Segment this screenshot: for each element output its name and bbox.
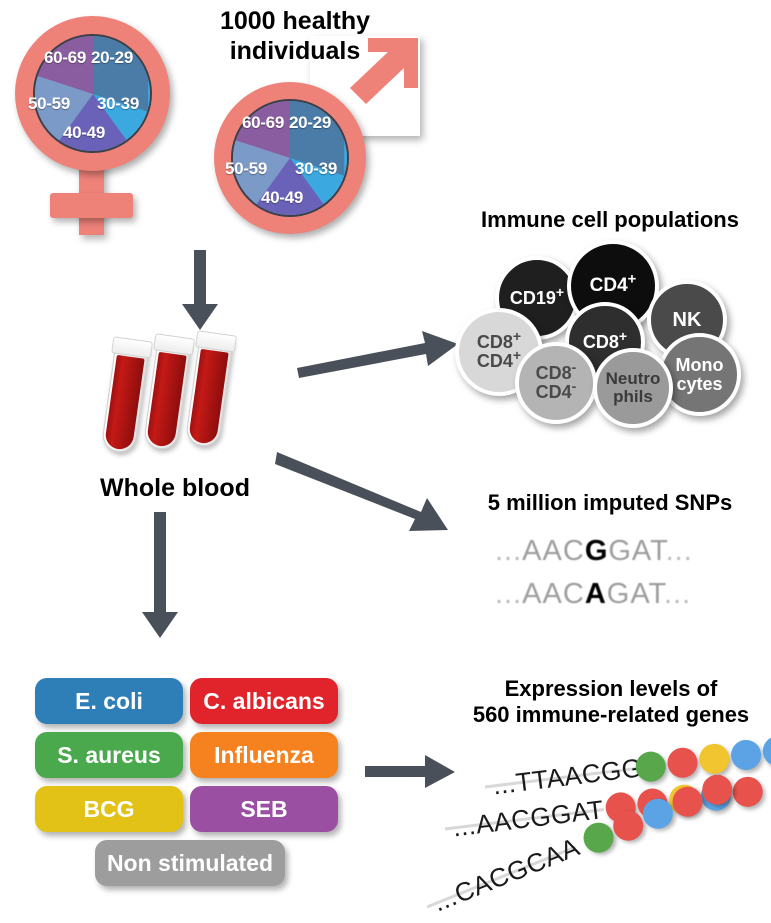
immune-heading: Immune cell populations xyxy=(455,207,765,233)
snp-right: GAT xyxy=(608,535,665,567)
stimulus-c-albicans[interactable]: C. albicans xyxy=(190,678,338,724)
immune-cell-label: CD19+ xyxy=(510,289,564,308)
snp-heading: 5 million imputed SNPs xyxy=(455,490,765,516)
pie-label-40-49: 40-49 xyxy=(261,188,303,208)
snp-prefix: ... xyxy=(495,535,522,567)
cohort-heading-line1: 1000 healthy xyxy=(170,6,420,36)
stimulation-panel: E. coli C. albicans S. aureus Influenza … xyxy=(35,678,335,898)
female-crossbar xyxy=(50,193,133,218)
arrow-cohort-to-blood xyxy=(180,250,220,332)
snp-right: GAT xyxy=(607,578,664,610)
stimulus-label: SEB xyxy=(240,796,287,823)
pie-label-30-39: 30-39 xyxy=(97,94,139,114)
expression-heading: Expression levels of 560 immune-related … xyxy=(455,676,767,729)
immune-cell-label: CD4+ xyxy=(590,276,637,296)
stimulus-label: C. albicans xyxy=(203,688,324,715)
snp-left: AAC xyxy=(522,535,585,567)
stimulus-label: BCG xyxy=(83,796,134,823)
immune-cell-neutrophils: Neutrophils xyxy=(593,348,673,428)
snp-sequence-row: ...AACGGAT... xyxy=(495,535,693,568)
pie-label-20-29: 20-29 xyxy=(91,48,133,68)
arrow-blood-to-stimuli xyxy=(140,512,180,640)
stimulus-e-coli[interactable]: E. coli xyxy=(35,678,183,724)
whole-blood-label: Whole blood xyxy=(75,473,275,503)
male-symbol: 20-29 30-39 40-49 50-59 60-69 xyxy=(205,58,420,248)
pie-label-20-29: 20-29 xyxy=(289,113,331,133)
immune-cell-label: CD8+CD4+ xyxy=(477,333,521,371)
pie-label-60-69: 60-69 xyxy=(44,48,86,68)
pie-label-40-49: 40-49 xyxy=(63,123,105,143)
stimulus-label: Influenza xyxy=(214,742,314,769)
stimulus-non-stimulated[interactable]: Non stimulated xyxy=(95,840,285,886)
snp-left: AAC xyxy=(522,578,585,610)
stimulus-s-aureus[interactable]: S. aureus xyxy=(35,732,183,778)
immune-cell-label: Monocytes xyxy=(676,356,724,394)
dna-bead xyxy=(666,746,699,779)
arrow-blood-to-snp xyxy=(275,450,450,535)
snp-variant: A xyxy=(585,578,607,610)
immune-cell-cluster: CD19+ CD4+ NK CD8+CD4+ CD8+ Monocytes CD… xyxy=(455,240,765,420)
immune-cell-label: CD8+ xyxy=(583,333,627,352)
stimulus-bcg[interactable]: BCG xyxy=(35,786,183,832)
immune-cell-cd8neg-cd4neg: CD8-CD4- xyxy=(515,342,597,424)
stimulus-label: S. aureus xyxy=(57,742,161,769)
female-symbol: 20-29 30-39 40-49 50-59 60-69 xyxy=(8,10,193,240)
snp-suffix: ... xyxy=(666,535,693,567)
stimulus-label: E. coli xyxy=(75,688,143,715)
expression-heading-line2: 560 immune-related genes xyxy=(455,702,767,728)
snp-variant: G xyxy=(585,535,609,567)
snp-suffix: ... xyxy=(664,578,691,610)
expression-heading-line1: Expression levels of xyxy=(455,676,767,702)
arrow-blood-to-immune xyxy=(295,330,460,380)
pie-label-30-39: 30-39 xyxy=(295,159,337,179)
snp-sequence-row: ...AACAGAT... xyxy=(495,578,691,611)
pie-label-50-59: 50-59 xyxy=(225,159,267,179)
pie-label-60-69: 60-69 xyxy=(242,113,284,133)
arrow-stimuli-to-expression xyxy=(365,755,457,789)
blood-tube xyxy=(101,339,150,455)
immune-cell-label: Neutrophils xyxy=(606,370,661,406)
pie-label-50-59: 50-59 xyxy=(28,94,70,114)
dna-bead xyxy=(761,734,771,767)
whole-blood-group xyxy=(110,335,290,465)
stimulus-seb[interactable]: SEB xyxy=(190,786,338,832)
immune-cell-label: CD8-CD4- xyxy=(536,364,577,402)
snp-prefix: ... xyxy=(495,578,522,610)
stimulus-label: Non stimulated xyxy=(107,850,273,877)
dna-strand-group: ...TTAACGG ...AACGGAT ...CACGCAA xyxy=(455,740,771,915)
stimulus-influenza[interactable]: Influenza xyxy=(190,732,338,778)
immune-cell-label: NK xyxy=(673,310,702,331)
